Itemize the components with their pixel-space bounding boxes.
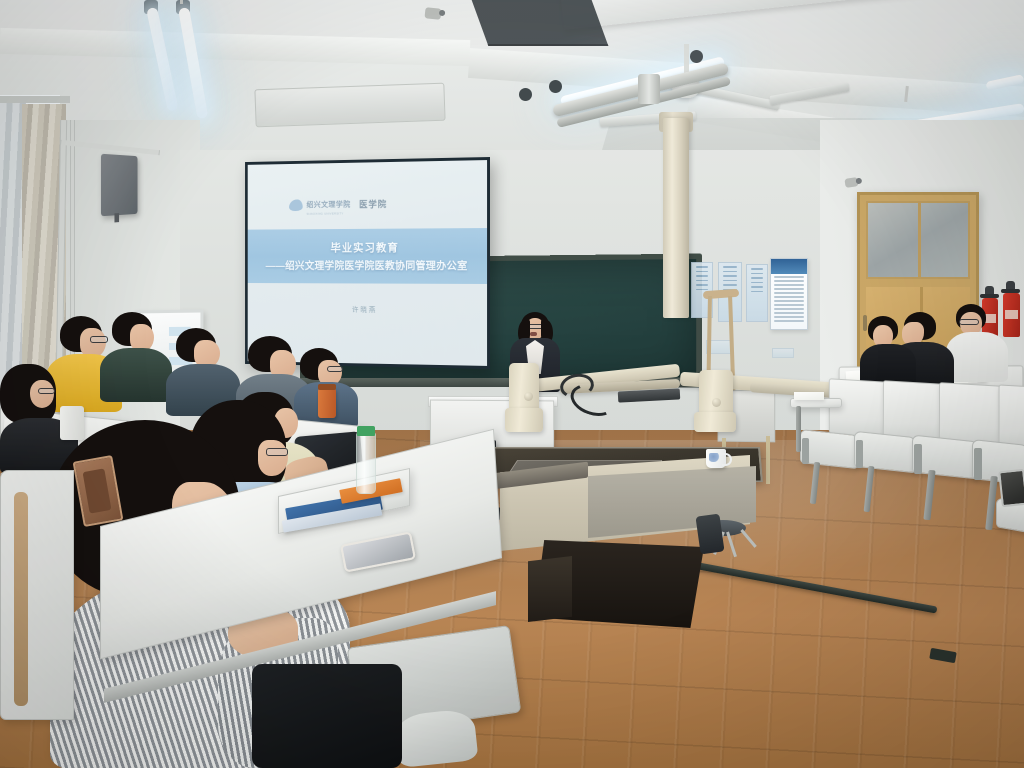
student-face [30, 380, 54, 408]
lecture-seat-foreground[interactable] [0, 470, 74, 720]
wall-poster-framed [770, 258, 808, 330]
glasses-icon [38, 388, 55, 394]
slide-logo-en: SHAOXING UNIVERSITY [306, 211, 350, 215]
poster-body-lines [771, 274, 807, 326]
stand-leg [766, 436, 770, 484]
student-right-1 [862, 316, 920, 388]
ceiling-light-panel [254, 83, 445, 128]
student-left-3 [100, 312, 172, 402]
water-bottle-clear [356, 432, 376, 494]
slide-presenter-name: 许晓燕 [248, 304, 487, 316]
slide-logo: 绍兴文理学院 SHAOXING UNIVERSITY 医学院 [289, 193, 387, 215]
seat-arm [914, 444, 922, 474]
mug-pattern [709, 453, 720, 462]
wall-poster-blue-3 [746, 264, 768, 322]
lecturer-mouth [530, 332, 537, 336]
curtain-rail [0, 96, 70, 103]
classroom-photograph: 绍兴文理学院 SHAOXING UNIVERSITY 医学院 毕业实习教育 ——… [0, 0, 1024, 768]
x-ray-tube-column [663, 118, 689, 318]
slide-title: 毕业实习教育 [331, 239, 399, 255]
ceiling-camera-icon [424, 7, 441, 20]
seat-arm [802, 438, 809, 464]
glasses-icon [959, 319, 979, 325]
seat-arm [974, 448, 982, 480]
ceiling-vent [472, 0, 609, 46]
x-ray-table-foot [528, 556, 572, 622]
rail-cap [549, 80, 562, 93]
tablet-on-desk [998, 469, 1024, 508]
seat-arm [856, 440, 863, 468]
stool-post [695, 514, 724, 555]
x-ray-collimator-2 [694, 412, 736, 432]
rail-cap [519, 88, 532, 101]
jar-lid [318, 384, 336, 390]
slide-title-band: 毕业实习教育 ——绍兴文理学院医学院医教协同管理办公室 [248, 228, 487, 284]
university-logo-icon [289, 199, 303, 211]
student-dark-trousers [252, 664, 402, 768]
table-leg [796, 406, 801, 452]
ceiling-camera-icon [844, 177, 858, 188]
student-green-shirt [100, 348, 172, 402]
wall-speaker [101, 154, 138, 217]
tube-light-cap [690, 50, 703, 63]
ceramic-mug [706, 449, 726, 468]
poster-header [771, 259, 807, 274]
lecture-desk [883, 380, 944, 443]
slide-logo-cn: 绍兴文理学院 [306, 200, 350, 209]
lecture-seat[interactable] [854, 431, 916, 474]
x-ray-knob [524, 392, 533, 401]
x-ray-collimator [505, 408, 543, 432]
wall-notice-small [772, 348, 794, 358]
lecture-desk [829, 378, 888, 438]
light-rod [180, 0, 183, 4]
door-glass-panel [866, 201, 970, 279]
x-ray-tube-head-2 [699, 370, 733, 418]
paper-handouts [794, 392, 824, 400]
x-ray-knob [712, 398, 721, 407]
slide-subtitle: ——绍兴文理学院医学院医教协同管理办公室 [266, 258, 468, 273]
rail-carriage [638, 74, 660, 104]
water-bottle-green-cap [357, 426, 375, 436]
seat-wood-trim [14, 492, 28, 706]
glasses-icon [327, 366, 343, 372]
slide-logo-dept: 医学院 [359, 198, 387, 211]
orange-jar [318, 388, 336, 418]
